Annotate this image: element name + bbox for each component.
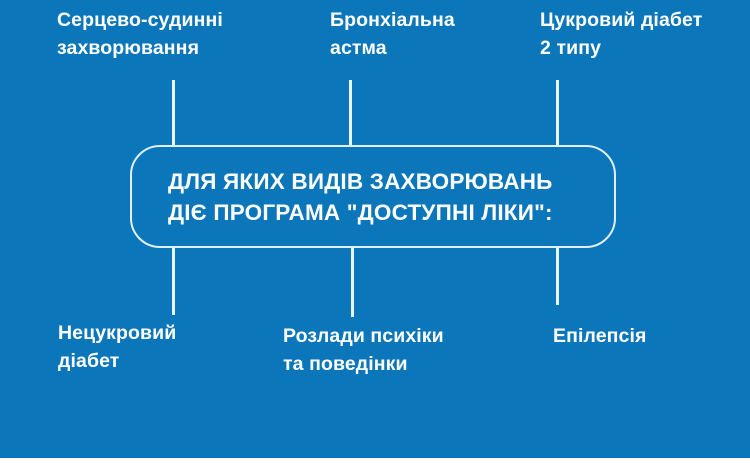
connector-line-top-diabetes-type2	[556, 80, 559, 146]
connector-line-bottom-mental-disorders	[351, 247, 354, 317]
center-question-text: ДЛЯ ЯКИХ ВИДІВ ЗАХВОРЮВАНЬ ДІЄ ПРОГРАМА …	[168, 166, 598, 228]
top-label-diabetes-type2: Цукровий діабет 2 типу	[540, 6, 745, 62]
bottom-label-mental-disorders: Розлади психіки та поведінки	[283, 322, 493, 378]
connector-line-bottom-diabetes-insipidus	[172, 247, 175, 315]
connector-line-top-cardiovascular	[172, 80, 175, 146]
connector-line-bottom-epilepsy	[556, 247, 559, 305]
top-label-asthma: Бронхіальна астма	[330, 6, 520, 62]
footer-strip	[0, 458, 750, 470]
top-label-cardiovascular: Серцево-судинні захворювання	[57, 6, 282, 62]
connector-line-top-asthma	[349, 80, 352, 146]
bottom-label-diabetes-insipidus: Нецукровий діабет	[58, 319, 258, 375]
infographic-canvas: Серцево-судинні захворювання Бронхіальна…	[0, 0, 750, 470]
bottom-label-epilepsy: Епілепсія	[553, 322, 733, 350]
